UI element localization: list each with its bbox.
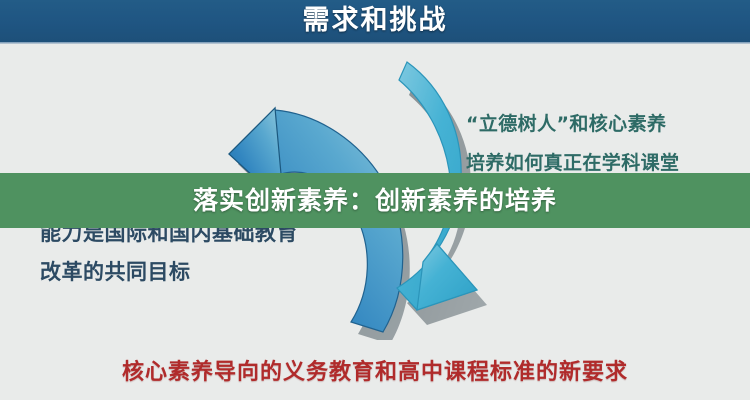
bottom-caption: 核心素养导向的义务教育和高中课程标准的新要求 xyxy=(0,358,750,388)
right-text-line-1: “立德树人”和核心素养 xyxy=(466,105,750,144)
overlay-banner-text: 落实创新素养：创新素养的培养 xyxy=(0,173,750,228)
slide-canvas: 需求和挑战 xyxy=(0,0,750,400)
left-text-line-3: 改革的共同目标 xyxy=(40,253,350,292)
slide-title: 需求和挑战 xyxy=(0,3,750,39)
